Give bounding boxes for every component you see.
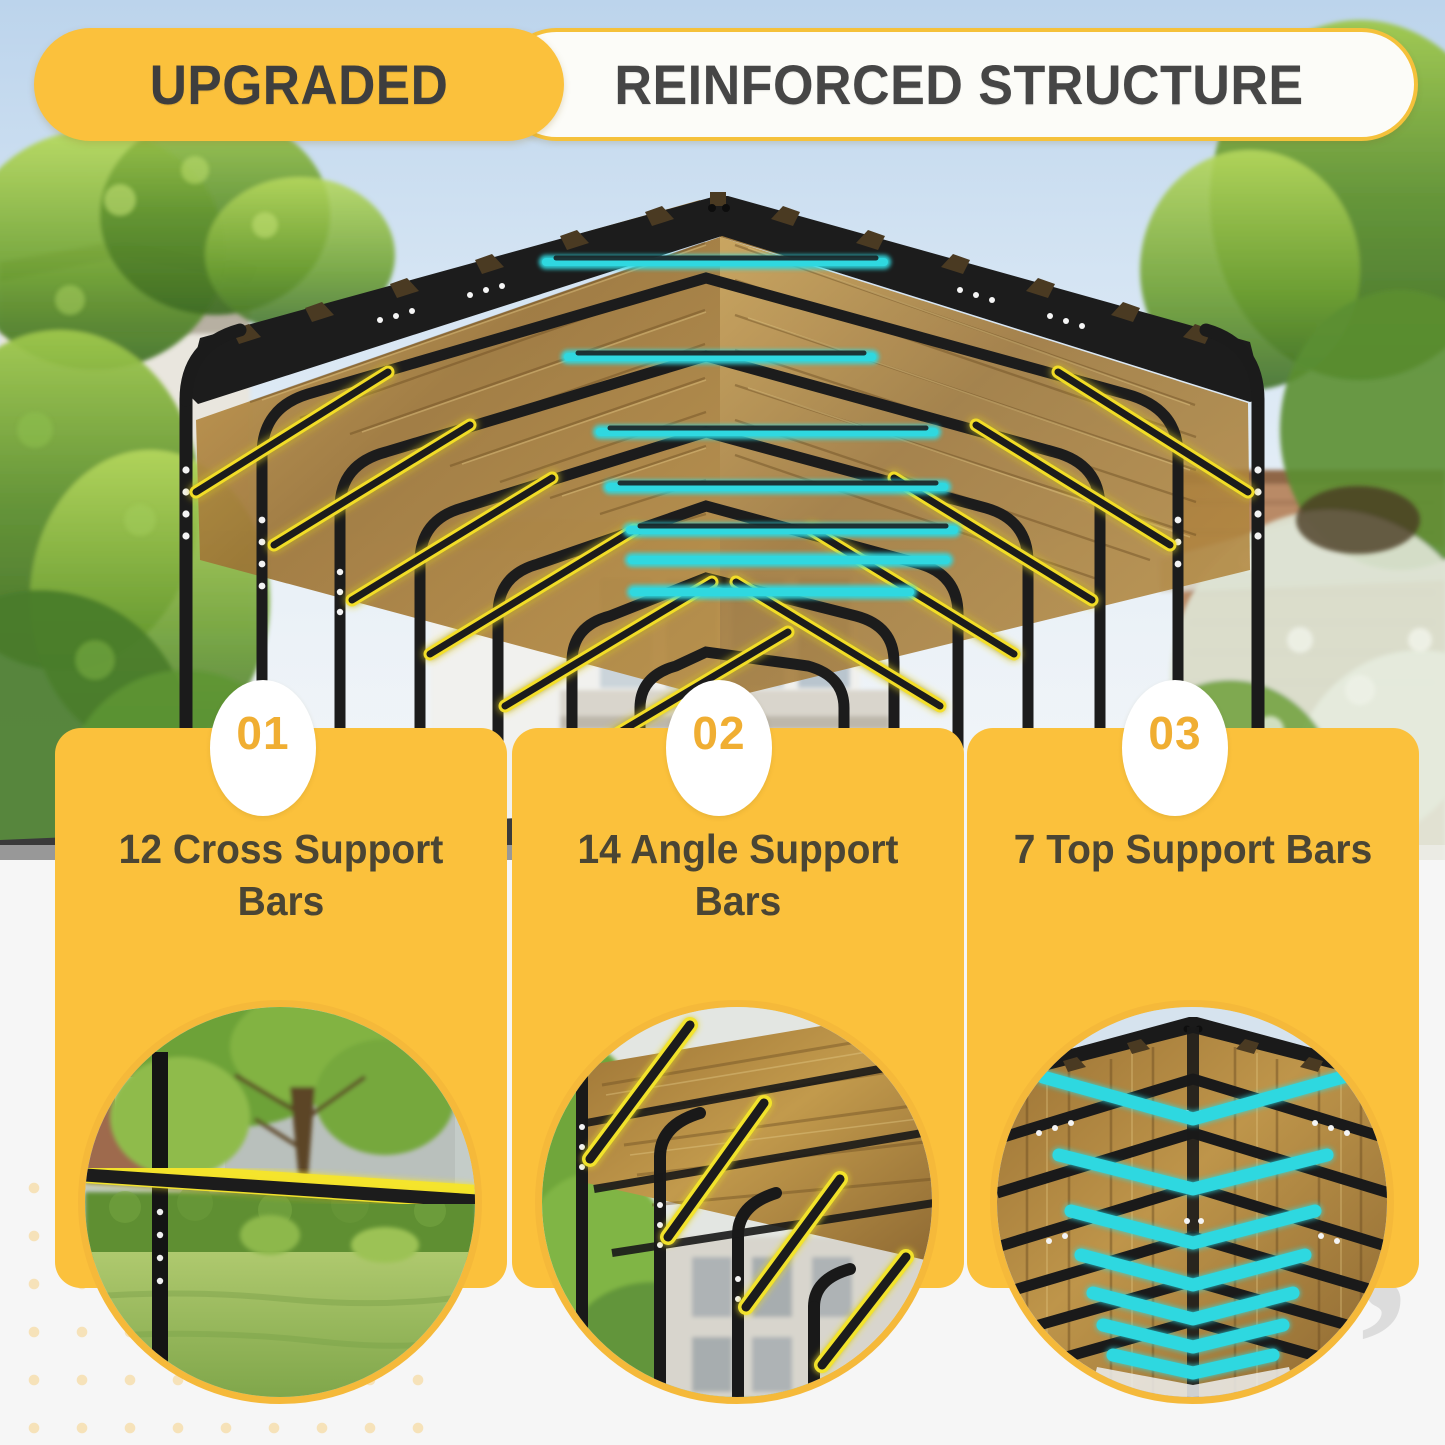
banner-badge-label: UPGRADED — [55, 28, 543, 141]
feature-card-2-title: 14 Angle Support Bars — [544, 823, 932, 928]
badge-number-2: 02 — [666, 680, 772, 816]
detail-photo-top-support-bars — [990, 1000, 1394, 1404]
feature-card-3-title: 7 Top Support Bars — [999, 823, 1387, 875]
badge-number-1-label: 01 — [236, 706, 289, 760]
header-banner: REINFORCED STRUCTURE UPGRADED — [34, 28, 1418, 141]
product-infographic: REINFORCED STRUCTURE UPGRADED ” 01 12 Cr… — [0, 0, 1445, 1445]
badge-number-1: 01 — [210, 680, 316, 816]
detail-photo-angle-support-bars — [535, 1000, 939, 1404]
badge-number-3-label: 03 — [1148, 706, 1201, 760]
badge-number-2-label: 02 — [692, 706, 745, 760]
banner-title: REINFORCED STRUCTURE — [536, 28, 1382, 141]
detail-photo-cross-support-bars — [78, 1000, 482, 1404]
badge-number-3: 03 — [1122, 680, 1228, 816]
feature-card-1-title: 12 Cross Support Bars — [87, 823, 475, 928]
